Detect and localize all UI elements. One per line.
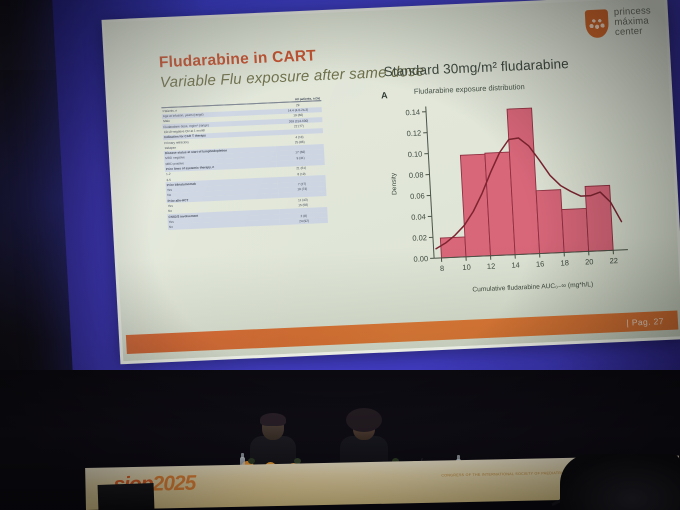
page-number: | Pag. 27 bbox=[626, 316, 664, 328]
y-tick-label: 0.06 bbox=[410, 191, 425, 201]
x-tick-label: 8 bbox=[440, 264, 445, 273]
chart-title: Standard 30mg/m² fludarabine bbox=[383, 56, 569, 79]
shield-icon bbox=[585, 9, 610, 38]
camera-rig-foreground bbox=[560, 454, 680, 510]
x-tick-label: 20 bbox=[585, 257, 594, 266]
laptop bbox=[98, 483, 155, 510]
y-tick-label: 0.08 bbox=[409, 170, 424, 180]
x-tick-label: 14 bbox=[511, 260, 520, 269]
conference-logo-year: 2025 bbox=[152, 472, 195, 496]
projection-screen-wall: princess máxima center Fludarabine in CA… bbox=[52, 0, 680, 399]
stage-floor: siop2025 CONGRESS OF THE INTERNATIONAL S… bbox=[0, 370, 680, 510]
x-tick-label: 12 bbox=[487, 262, 496, 271]
histogram-plot: 8101214161820220.000.020.040.060.080.100… bbox=[381, 89, 642, 300]
x-axis-label: Cumulative fludarabine AUC₀₋∞ (mg*h/L) bbox=[472, 281, 593, 293]
panelist-hair bbox=[346, 408, 382, 432]
presentation-slide-frame: princess máxima center Fludarabine in CA… bbox=[101, 0, 680, 364]
x-tick-label: 18 bbox=[560, 258, 569, 267]
logo-text: princess máxima center bbox=[614, 6, 653, 37]
y-tick-label: 0.04 bbox=[411, 212, 426, 222]
table-cell-value: 24 (92) bbox=[280, 217, 328, 224]
x-tick-label: 10 bbox=[462, 263, 471, 272]
table-body: Patients, n29Age at infusion, years (ran… bbox=[161, 101, 328, 230]
princess-maxima-logo: princess máxima center bbox=[585, 6, 653, 38]
x-tick-label: 16 bbox=[536, 259, 545, 268]
panelist-hair bbox=[260, 413, 286, 426]
presentation-slide: princess máxima center Fludarabine in CA… bbox=[105, 0, 680, 361]
y-tick-label: 0.10 bbox=[408, 149, 423, 159]
histogram-svg: 8101214161820220.000.020.040.060.080.100… bbox=[381, 89, 642, 300]
y-tick-label: 0.14 bbox=[405, 108, 420, 118]
y-axis bbox=[426, 106, 434, 258]
histogram-bar bbox=[440, 237, 466, 258]
histogram-bar bbox=[536, 190, 564, 254]
histogram-bar bbox=[562, 208, 589, 252]
y-tick-label: 0.02 bbox=[412, 233, 427, 243]
panel-label: A bbox=[381, 90, 388, 100]
y-tick-label: 0.00 bbox=[413, 254, 428, 264]
y-axis-label: Density bbox=[390, 172, 398, 195]
y-tick-label: 0.12 bbox=[406, 129, 421, 139]
auditorium-photo: princess máxima center Fludarabine in CA… bbox=[0, 0, 680, 510]
logo-line-3: center bbox=[615, 26, 652, 37]
x-tick-label: 22 bbox=[609, 256, 618, 265]
patient-characteristics-table: All patients, n (%) Patients, n29Age at … bbox=[161, 95, 328, 230]
